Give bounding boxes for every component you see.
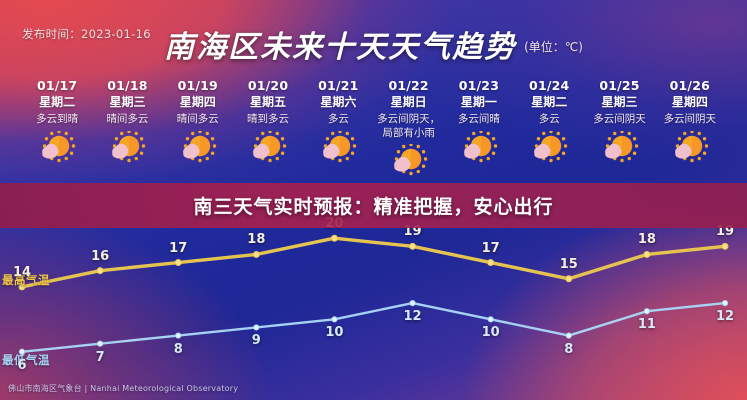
low-temp-value: 11 xyxy=(638,317,656,332)
high-temp-value: 14 xyxy=(13,265,31,280)
sun-behind-cloud-icon xyxy=(37,131,77,165)
high-temp-value: 15 xyxy=(560,257,578,272)
day-weekday: 星期日 xyxy=(373,95,443,110)
unit-label: (单位：℃) xyxy=(524,38,583,55)
day-date: 01/23 xyxy=(444,78,514,93)
day-weekday: 星期三 xyxy=(92,95,162,110)
sun-behind-cloud-icon xyxy=(248,131,288,165)
day-date: 01/17 xyxy=(22,78,92,93)
day-column: 01/20星期五晴到多云 xyxy=(233,78,303,198)
high-temp-value: 18 xyxy=(247,232,265,247)
sun-behind-cloud-icon xyxy=(318,131,358,165)
day-condition: 晴间多云 xyxy=(92,113,162,127)
day-condition: 多云间阴天 xyxy=(584,113,654,127)
day-date: 01/21 xyxy=(303,78,373,93)
day-column: 01/26星期四多云间阴天 xyxy=(655,78,725,198)
day-condition: 多云间阴天，局部有小雨 xyxy=(373,113,443,140)
day-weekday: 星期二 xyxy=(22,95,92,110)
day-date: 01/25 xyxy=(584,78,654,93)
day-column: 01/18星期三晴间多云 xyxy=(92,78,162,198)
day-weekday: 星期六 xyxy=(303,95,373,110)
sun-behind-cloud-icon xyxy=(600,131,640,165)
sun-behind-cloud-icon xyxy=(529,131,569,165)
day-condition: 多云间阴天 xyxy=(655,113,725,127)
sun-behind-cloud-icon xyxy=(459,131,499,165)
day-weekday: 星期二 xyxy=(514,95,584,110)
day-weekday: 星期三 xyxy=(584,95,654,110)
day-column: 01/25星期三多云间阴天 xyxy=(584,78,654,198)
day-weekday: 星期五 xyxy=(233,95,303,110)
day-date: 01/26 xyxy=(655,78,725,93)
low-temp-value: 6 xyxy=(17,358,26,373)
day-columns: 01/17星期二多云到晴01/18星期三晴间多云01/19星期四晴间多云01/2… xyxy=(22,78,725,198)
high-temp-value: 16 xyxy=(91,249,109,264)
day-condition: 多云 xyxy=(514,113,584,127)
title-area: 南海区未来十天天气趋势(单位：℃) xyxy=(0,22,747,66)
high-temp-value: 17 xyxy=(169,241,187,256)
low-temp-value: 8 xyxy=(174,342,183,357)
day-date: 01/22 xyxy=(373,78,443,93)
day-condition: 多云间晴 xyxy=(444,113,514,127)
low-temp-value: 12 xyxy=(716,309,734,324)
low-temp-value: 9 xyxy=(252,333,261,348)
day-column: 01/23星期一多云间晴 xyxy=(444,78,514,198)
low-temp-value: 12 xyxy=(404,309,422,324)
day-weekday: 星期四 xyxy=(655,95,725,110)
day-weekday: 星期四 xyxy=(163,95,233,110)
overlay-banner: 南三天气实时预报：精准把握，安心出行 xyxy=(0,183,747,228)
day-condition: 多云到晴 xyxy=(22,113,92,127)
day-condition: 晴间多云 xyxy=(163,113,233,127)
overlay-banner-text: 南三天气实时预报：精准把握，安心出行 xyxy=(193,192,553,219)
sun-behind-cloud-icon xyxy=(670,131,710,165)
day-condition: 晴到多云 xyxy=(233,113,303,127)
sun-behind-cloud-icon xyxy=(107,131,147,165)
day-condition: 多云 xyxy=(303,113,373,127)
sun-behind-cloud-icon xyxy=(178,131,218,165)
sun-behind-cloud-icon xyxy=(389,144,429,178)
day-date: 01/20 xyxy=(233,78,303,93)
low-temp-value: 10 xyxy=(482,325,500,340)
high-temp-value: 17 xyxy=(482,241,500,256)
low-temp-value: 7 xyxy=(96,350,105,365)
day-date: 01/19 xyxy=(163,78,233,93)
day-column: 01/22星期日多云间阴天，局部有小雨 xyxy=(373,78,443,198)
day-column: 01/24星期二多云 xyxy=(514,78,584,198)
low-temp-value: 8 xyxy=(564,342,573,357)
day-column: 01/17星期二多云到晴 xyxy=(22,78,92,198)
low-temp-value: 10 xyxy=(325,325,343,340)
weather-infographic: 发布时间：2023-01-16 南海区未来十天天气趋势(单位：℃) 01/17星… xyxy=(0,0,747,400)
source-attribution: 佛山市南海区气象台 | Nanhai Meteorological Observ… xyxy=(8,383,238,394)
day-column: 01/21星期六多云 xyxy=(303,78,373,198)
day-column: 01/19星期四晴间多云 xyxy=(163,78,233,198)
page-title: 南海区未来十天天气趋势 xyxy=(164,22,516,66)
day-weekday: 星期一 xyxy=(444,95,514,110)
high-temp-value: 18 xyxy=(638,232,656,247)
day-date: 01/24 xyxy=(514,78,584,93)
day-date: 01/18 xyxy=(92,78,162,93)
